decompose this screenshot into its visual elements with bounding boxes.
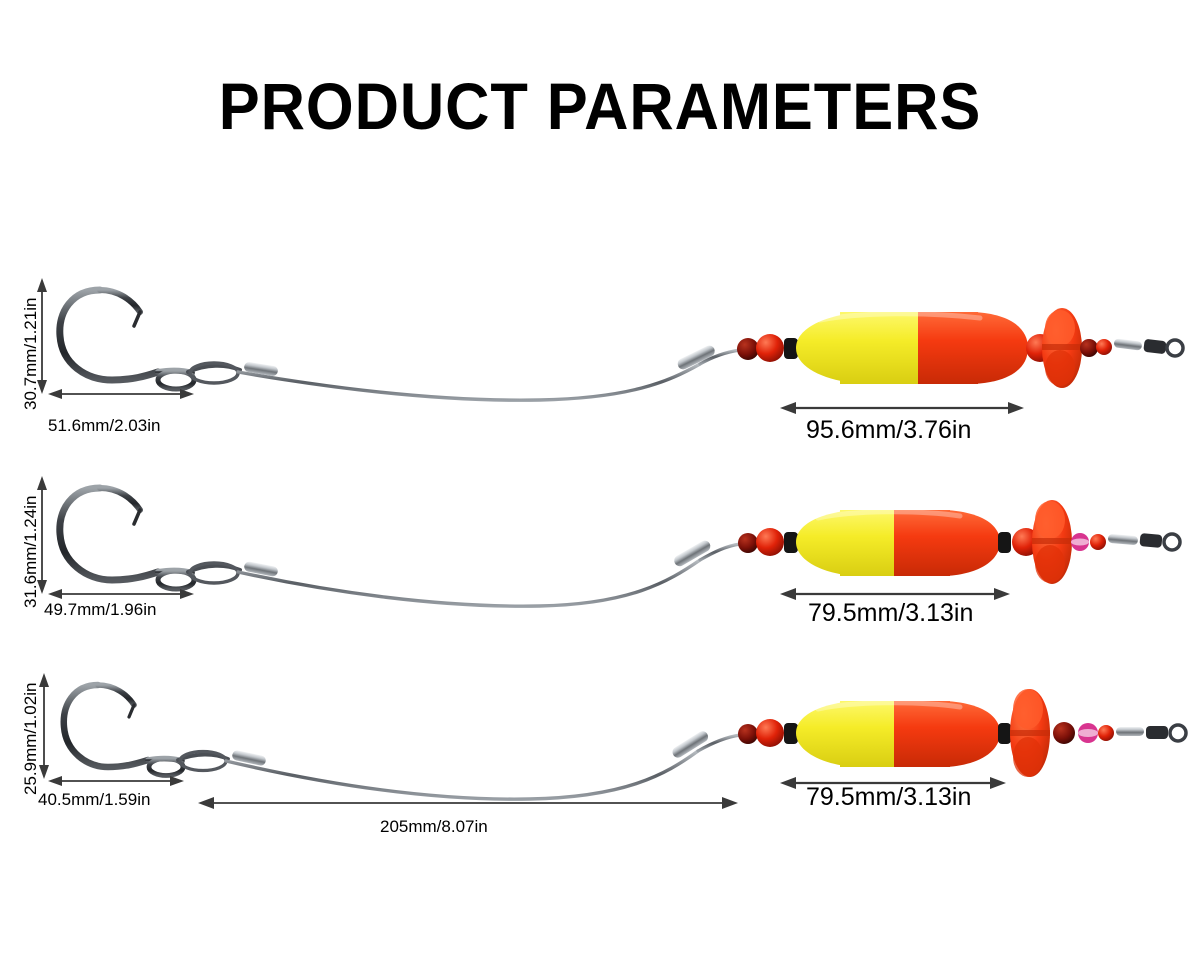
bead-dark-1c: [1080, 339, 1098, 357]
page-title: PRODUCT PARAMETERS: [42, 68, 1158, 144]
bead-stopper-2: [784, 532, 798, 553]
snap-connector-1: [188, 363, 240, 383]
float-length-label-3: 79.5mm/3.13in: [806, 785, 971, 810]
float-body-1: [796, 312, 1028, 384]
bead-dark-1: [737, 338, 759, 360]
hook-length-label-2: 49.7mm/1.96in: [44, 601, 156, 618]
rattle-propeller-3: [1010, 689, 1050, 777]
rig-row-2: [0, 460, 1200, 660]
hook-length-label-1: 51.6mm/2.03in: [48, 417, 160, 434]
bead-red-3: [756, 719, 784, 747]
bead-stopper-3: [784, 723, 798, 744]
bead-red-1: [756, 334, 784, 362]
rattle-propeller-1: [1042, 308, 1082, 388]
wire-leader-3: [226, 751, 698, 799]
bead-dark-2: [738, 533, 758, 553]
bead-red-2: [756, 528, 784, 556]
wire-leader-1: [238, 364, 700, 400]
bead-red-2c: [1090, 534, 1106, 550]
snap-connector-2: [188, 563, 240, 583]
dimension-float-length-1: [780, 402, 1024, 414]
rig-row-3: [0, 655, 1200, 870]
bead-accent-2: [1071, 533, 1089, 551]
fishing-hook-2: [60, 488, 194, 589]
hook-height-label-1: 30.7mm/1.21in: [22, 298, 39, 410]
bead-stopper-1: [784, 338, 798, 359]
float-body-3: [796, 701, 1000, 767]
bead-stopper-3b: [998, 723, 1011, 744]
rig-row-1: [0, 260, 1200, 460]
total-length-label: 205mm/8.07in: [380, 818, 488, 835]
bead-dark-3: [738, 724, 758, 744]
barrel-swivel-2: [1108, 533, 1180, 550]
barrel-swivel-3: [1116, 725, 1186, 741]
bead-dark-3c: [1053, 722, 1075, 744]
bead-red-3c: [1098, 725, 1114, 741]
float-length-label-2: 79.5mm/3.13in: [808, 601, 973, 626]
float-length-label-1: 95.6mm/3.76in: [806, 418, 971, 443]
bead-stopper-2b: [998, 532, 1011, 553]
fishing-hook-3: [64, 685, 183, 776]
fishing-hook-1: [60, 290, 194, 389]
wire-leader-2: [238, 560, 700, 606]
bead-red-1c: [1096, 339, 1112, 355]
barrel-swivel-1: [1113, 338, 1183, 356]
rattle-propeller-2: [1032, 500, 1072, 584]
dimension-hook-height-3: [39, 673, 49, 779]
hook-height-label-3: 25.9mm/1.02in: [22, 683, 39, 795]
hook-length-label-3: 40.5mm/1.59in: [38, 791, 150, 808]
snap-connector-3: [178, 752, 228, 771]
product-parameters-page: PRODUCT PARAMETERS: [0, 0, 1200, 974]
bead-accent-3: [1078, 723, 1098, 743]
float-body-2: [796, 510, 1000, 576]
hook-height-label-2: 31.6mm/1.24in: [22, 496, 39, 608]
